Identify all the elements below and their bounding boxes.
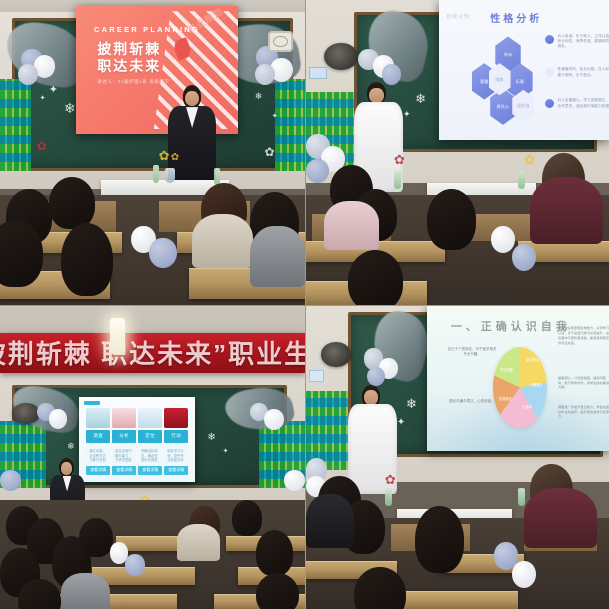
event-banner: “披荆斩棘 职达未来”职业生涯 [0, 333, 305, 372]
snowflake-decor: ❄ [406, 397, 417, 410]
card-body: 结合自身兴趣与能力，分析匹配度与差距。 [112, 446, 136, 463]
bullet-dot-icon [545, 35, 554, 44]
card: 调查 通过问卷、访谈等方式了解行业现状与岗位需求。 查看详情 [86, 430, 110, 475]
audience-body [324, 201, 379, 250]
flower-vase [165, 168, 176, 183]
audience-head [61, 223, 113, 296]
card-header: 行动 [164, 430, 188, 443]
pie-note-right: 有着较好的逻辑思维能力，对待学习认真，善于总结归纳与反思提升，在实践中不断积累经… [558, 326, 609, 345]
snowflake-decor: ❄ [207, 433, 215, 443]
collage-panel-top-left[interactable]: ✦ ❄ ✦ ❄ ✦ 职业规划 CAREER PLANNING 披荆斩棘 职达未来… [0, 0, 305, 305]
bullet-text: 对人友善细心，学习态度端正，有团队合作意识，适应新环境能力较强。 [558, 98, 609, 109]
wall-tiles-right [275, 79, 306, 171]
slide-self-awareness: 一、正确认识自我 能力特长 兴趣爱好 价值观 性格特征 专业技能 自己于个性特征… [427, 306, 609, 451]
water-bottle [394, 171, 401, 189]
card-header: 定位 [138, 430, 162, 443]
slide-title: 性格分析 [490, 10, 542, 25]
wall-clock-icon [268, 31, 292, 52]
card-header: 调查 [86, 430, 110, 443]
balloon [512, 561, 536, 588]
flowers-yellow: ✿ [171, 153, 179, 163]
snowflake-decor: ✦ [272, 113, 278, 120]
flowers-yellow: ✿ [524, 153, 535, 166]
pie-note-left-2: 擅长沟通与表达，心态积极。 [449, 399, 495, 404]
pie-slice-label: 专业技能 [500, 368, 513, 372]
wall-notice [309, 67, 327, 79]
audience-body [306, 494, 354, 549]
bullet-text: 为人真诚、乐于助人、工作认真，做事有计划性，有责任感，能够和同学友好相处。 [558, 34, 609, 50]
snowflake-decor: ❄ [255, 92, 263, 101]
balloon [284, 470, 305, 491]
card-body: 通过问卷、访谈等方式了解行业现状与岗位需求。 [86, 446, 110, 463]
card-list: 调查 通过问卷、访谈等方式了解行业现状与岗位需求。 查看详情 分析 结合自身兴趣… [86, 430, 188, 475]
flowers-white: ✿ [264, 146, 274, 158]
bullet-dot-icon [545, 68, 554, 77]
flowers-red: ✿ [385, 473, 396, 486]
wall-fan-icon [321, 342, 351, 366]
audience-head [256, 530, 293, 575]
slide-subtitle: 讲述人：21级护理1班 班级同学 [97, 79, 169, 85]
audience-head [415, 506, 463, 573]
card-header: 分析 [112, 430, 136, 443]
slide-kicker: CAREER PLANNING [94, 25, 200, 34]
pie-note-left: 自己于个性特征，可于医学相关专业兴趣。 [447, 347, 497, 357]
audience-body [192, 214, 253, 269]
bullet-item: 为人真诚、乐于助人、工作认真，做事有计划性，有责任感，能够和同学友好相处。 [545, 34, 609, 50]
flowers-red: ✿ [394, 153, 405, 166]
balloon [125, 554, 145, 575]
card-body: 明确目标岗位，确定短期与长期发展方向。 [138, 446, 162, 463]
photo-collage: ✦ ❄ ✦ ❄ ✦ 职业规划 CAREER PLANNING 披荆斩棘 职达未来… [0, 0, 609, 609]
desk [397, 591, 518, 609]
water-bottle [214, 168, 221, 185]
pie-note-right: 需要进一步提升表达能力，学会在团队中主动发声，提升综合素质与竞争力。 [558, 405, 609, 419]
hexagon-trait: 责任心 [490, 88, 515, 124]
water-bottle [153, 165, 160, 183]
wall-fan-icon [324, 43, 357, 70]
projector-screen: 一、正确认识自我 能力特长 兴趣爱好 价值观 性格特征 专业技能 自己于个性特征… [427, 306, 609, 451]
collage-panel-bottom-right[interactable]: ❄ ✦ 一、正确认识自我 能力特长 兴趣爱好 价值观 性格特征 专业技能 自己于… [305, 305, 609, 609]
bullet-dot-icon [545, 99, 554, 108]
snowflake-decor: ❄ [64, 101, 76, 115]
audience-body [61, 573, 110, 609]
balloon [264, 409, 284, 430]
bullet-item: 对人友善细心，学习态度端正，有团队合作意识，适应新环境能力较强。 [545, 98, 609, 109]
slide-personality-analysis: 自我认知 性格分析 外向 稳重 乐观 责任心 随和 适应强 为人真诚、乐于助人、… [439, 0, 609, 140]
projector-screen: 调查 通过问卷、访谈等方式了解行业现状与岗位需求。 查看详情 分析 结合自身兴趣… [79, 397, 195, 482]
audience-body [177, 524, 220, 560]
card-footer-button: 查看详情 [164, 466, 188, 475]
balloon [255, 64, 275, 85]
water-bottle [518, 488, 525, 506]
audience-head [232, 500, 263, 536]
card-footer-button: 查看详情 [112, 466, 136, 475]
pie-slice-label: 能力特长 [526, 358, 539, 362]
slide-corner-note: 自我认知 [446, 13, 470, 20]
snowflake-decor: ✦ [40, 95, 46, 102]
collage-panel-top-right[interactable]: ❄ ✦ 自我认知 性格分析 外向 稳重 乐观 责任心 随和 适应强 为人真诚、乐… [305, 0, 609, 305]
card-body: 制定学习计划，提升专业技能并持续复盘调整。 [164, 446, 188, 463]
card-footer-button: 查看详情 [138, 466, 162, 475]
slide-tag [84, 401, 100, 405]
audience-body [530, 177, 603, 244]
snowflake-decor: ✦ [49, 85, 58, 96]
bullet-text: 性格偏内向，较为沉稳，在人际交往中善于倾听、乐于配合。 [558, 67, 609, 78]
pie-note-right: 做事细心、计划性较强，遇到问题时，能与同伴协作，寻求合适的解决方案。 [558, 376, 609, 390]
balloon [306, 159, 329, 183]
audience-head [348, 250, 403, 305]
ceiling-lamp [110, 318, 125, 354]
audience-head [256, 573, 299, 609]
card-image [138, 408, 162, 428]
snowflake-decor: ✦ [403, 110, 411, 119]
audience-head [49, 177, 95, 229]
card: 行动 制定学习计划，提升专业技能并持续复盘调整。 查看详情 [164, 430, 188, 475]
flowers-red: ✿ [37, 140, 47, 152]
pie-slice-label: 兴趣爱好 [530, 383, 543, 387]
audience-head [79, 518, 113, 557]
banner-text: “披荆斩棘 职达未来”职业生涯 [0, 334, 305, 371]
card-footer-button: 查看详情 [86, 466, 110, 475]
card-image [86, 408, 110, 428]
flowers-yellow: ✿ [159, 149, 170, 162]
snowflake-decor: ❄ [415, 92, 426, 105]
pie-slice-label: 价值观 [522, 405, 532, 409]
collage-panel-bottom-left[interactable]: “披荆斩棘 职达未来”职业生涯 ❄ ✦ ❄ [0, 305, 305, 609]
card: 定位 明确目标岗位，确定短期与长期发展方向。 查看详情 [138, 430, 162, 475]
card-image [164, 408, 188, 428]
balloon [0, 470, 21, 491]
water-bottle [518, 171, 525, 189]
water-bottle [385, 488, 392, 506]
card: 分析 结合自身兴趣与能力，分析匹配度与差距。 查看详情 [112, 430, 136, 475]
wall-tiles-left [0, 79, 31, 171]
slide-four-cards: 调查 通过问卷、访谈等方式了解行业现状与岗位需求。 查看详情 分析 结合自身兴趣… [79, 397, 195, 482]
balloon [367, 367, 385, 387]
bullet-item: 性格偏内向，较为沉稳，在人际交往中善于倾听、乐于配合。 [545, 67, 609, 78]
snowflake-decor: ❄ [67, 442, 75, 451]
card-image [112, 408, 136, 428]
slide-title: 一、正确认识自我 [451, 318, 571, 334]
wall-fan-icon [12, 403, 39, 424]
balloon [491, 226, 515, 253]
slide-title-line2: 职达未来 [97, 56, 161, 76]
audience-body [524, 488, 597, 549]
card-image-strip [86, 408, 188, 428]
balloon [49, 409, 67, 429]
audience-head [427, 189, 475, 250]
projector-screen: 自我认知 性格分析 外向 稳重 乐观 责任心 随和 适应强 为人真诚、乐于助人、… [439, 0, 609, 140]
snowflake-decor: ✦ [223, 448, 229, 455]
audience-body [250, 226, 305, 287]
snowflake-decor: ✦ [397, 418, 405, 428]
pie-chart: 能力特长 兴趣爱好 价值观 性格特征 专业技能 [493, 347, 548, 428]
pie-slice-label: 性格特征 [499, 397, 512, 401]
wall-notice [309, 370, 324, 382]
